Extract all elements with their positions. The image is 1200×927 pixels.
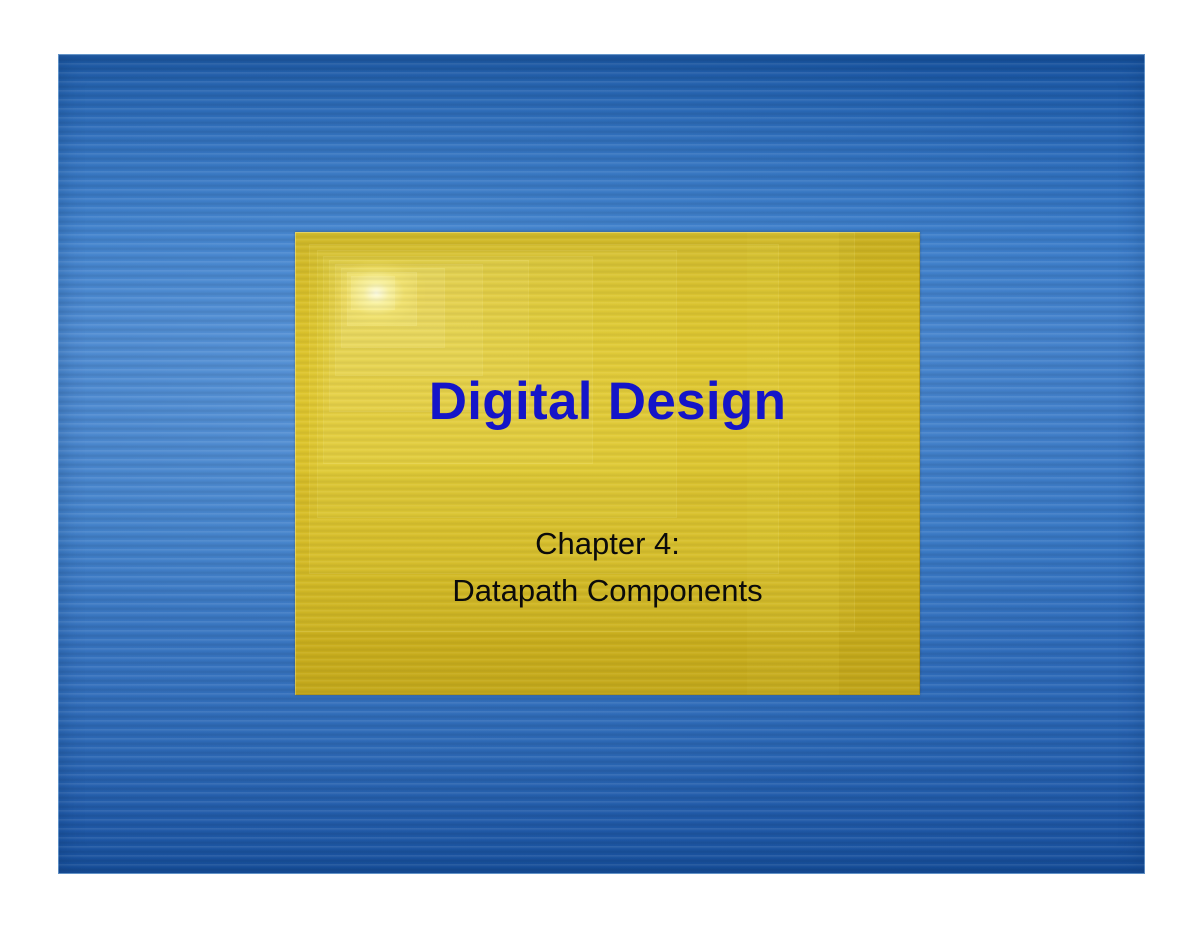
subtitle-line-chapter: Chapter 4: (295, 521, 920, 568)
subtitle-block: Chapter 4: Datapath Components (295, 521, 920, 614)
slide-title: Digital Design (429, 374, 787, 429)
nested-squares-icon-ring-9 (351, 276, 395, 310)
page-canvas: Digital Design Chapter 4: Datapath Compo… (0, 0, 1200, 927)
subtitle-line-topic: Datapath Components (295, 568, 920, 615)
presentation-slide[interactable]: Digital Design Chapter 4: Datapath Compo… (58, 54, 1145, 874)
title-content-panel: Digital Design Chapter 4: Datapath Compo… (295, 232, 920, 695)
title-block: Digital Design (295, 374, 920, 429)
